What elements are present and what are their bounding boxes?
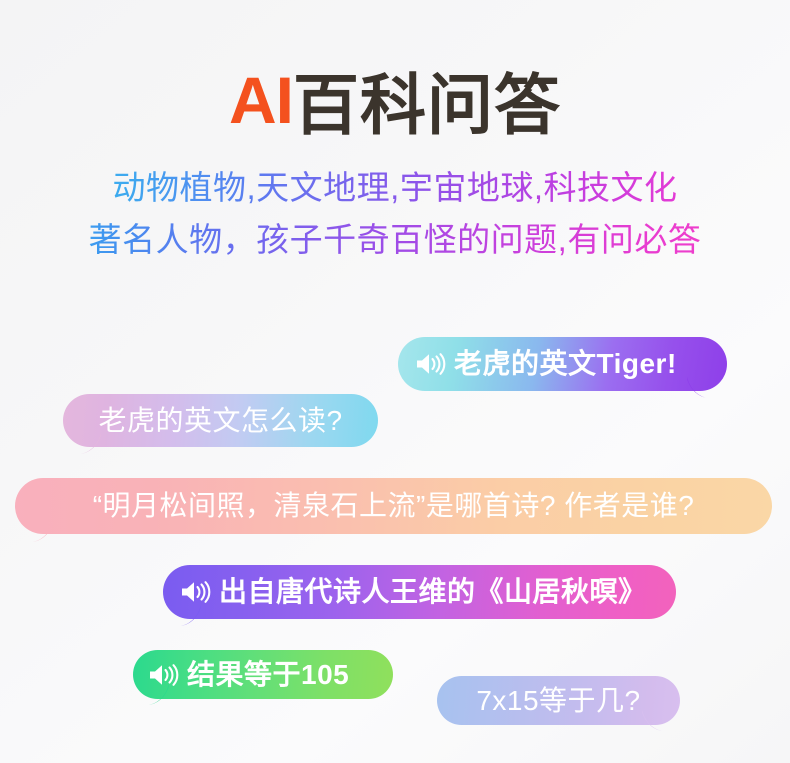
chat-bubble-text: 出自唐代诗人王维的《山居秋暝》	[219, 578, 647, 606]
chat-bubble-text: 老虎的英文怎么读?	[98, 407, 342, 435]
chat-bubble-question-math[interactable]: 7x15等于几?	[437, 676, 680, 725]
bubble-tail-left	[27, 521, 53, 545]
page-title: AI百科问答	[0, 52, 790, 148]
page-title-prefix: AI	[229, 63, 293, 137]
chat-bubble-question-tiger[interactable]: 老虎的英文怎么读?	[63, 394, 378, 447]
chat-bubble-text: 老虎的英文Tiger!	[454, 350, 677, 378]
bubble-tail-left	[75, 433, 101, 457]
page-subtitle-line-1: 动物植物,天文地理,宇宙地球,科技文化	[0, 162, 790, 214]
page-subtitle-line-2: 著名人物，孩子千奇百怪的问题,有问必答	[0, 214, 790, 266]
bubble-tail-left	[143, 684, 169, 708]
bubble-tail-left	[175, 605, 201, 629]
chat-bubble-question-poem[interactable]: “明月松间照，清泉石上流”是哪首诗? 作者是谁?	[15, 478, 772, 534]
chat-bubble-text: “明月松间照，清泉石上流”是哪首诗? 作者是谁?	[93, 492, 695, 520]
chat-bubble-text: 7x15等于几?	[476, 687, 640, 715]
page-title-main: 百科问答	[293, 68, 561, 142]
speaker-icon[interactable]	[414, 351, 448, 377]
page-subtitle: 动物植物,天文地理,宇宙地球,科技文化 著名人物，孩子千奇百怪的问题,有问必答	[0, 162, 790, 266]
chat-bubble-answer-poem[interactable]: 出自唐代诗人王维的《山居秋暝》	[163, 565, 676, 619]
speaker-icon[interactable]	[179, 579, 213, 605]
chat-bubble-text: 结果等于105	[187, 661, 349, 689]
promo-page: AI百科问答 动物植物,天文地理,宇宙地球,科技文化 著名人物，孩子千奇百怪的问…	[0, 0, 790, 763]
bubble-tail-right	[642, 710, 668, 734]
chat-bubble-answer-tiger[interactable]: 老虎的英文Tiger!	[398, 337, 727, 391]
bubble-tail-right	[687, 377, 713, 401]
chat-bubble-answer-math[interactable]: 结果等于105	[133, 650, 393, 699]
